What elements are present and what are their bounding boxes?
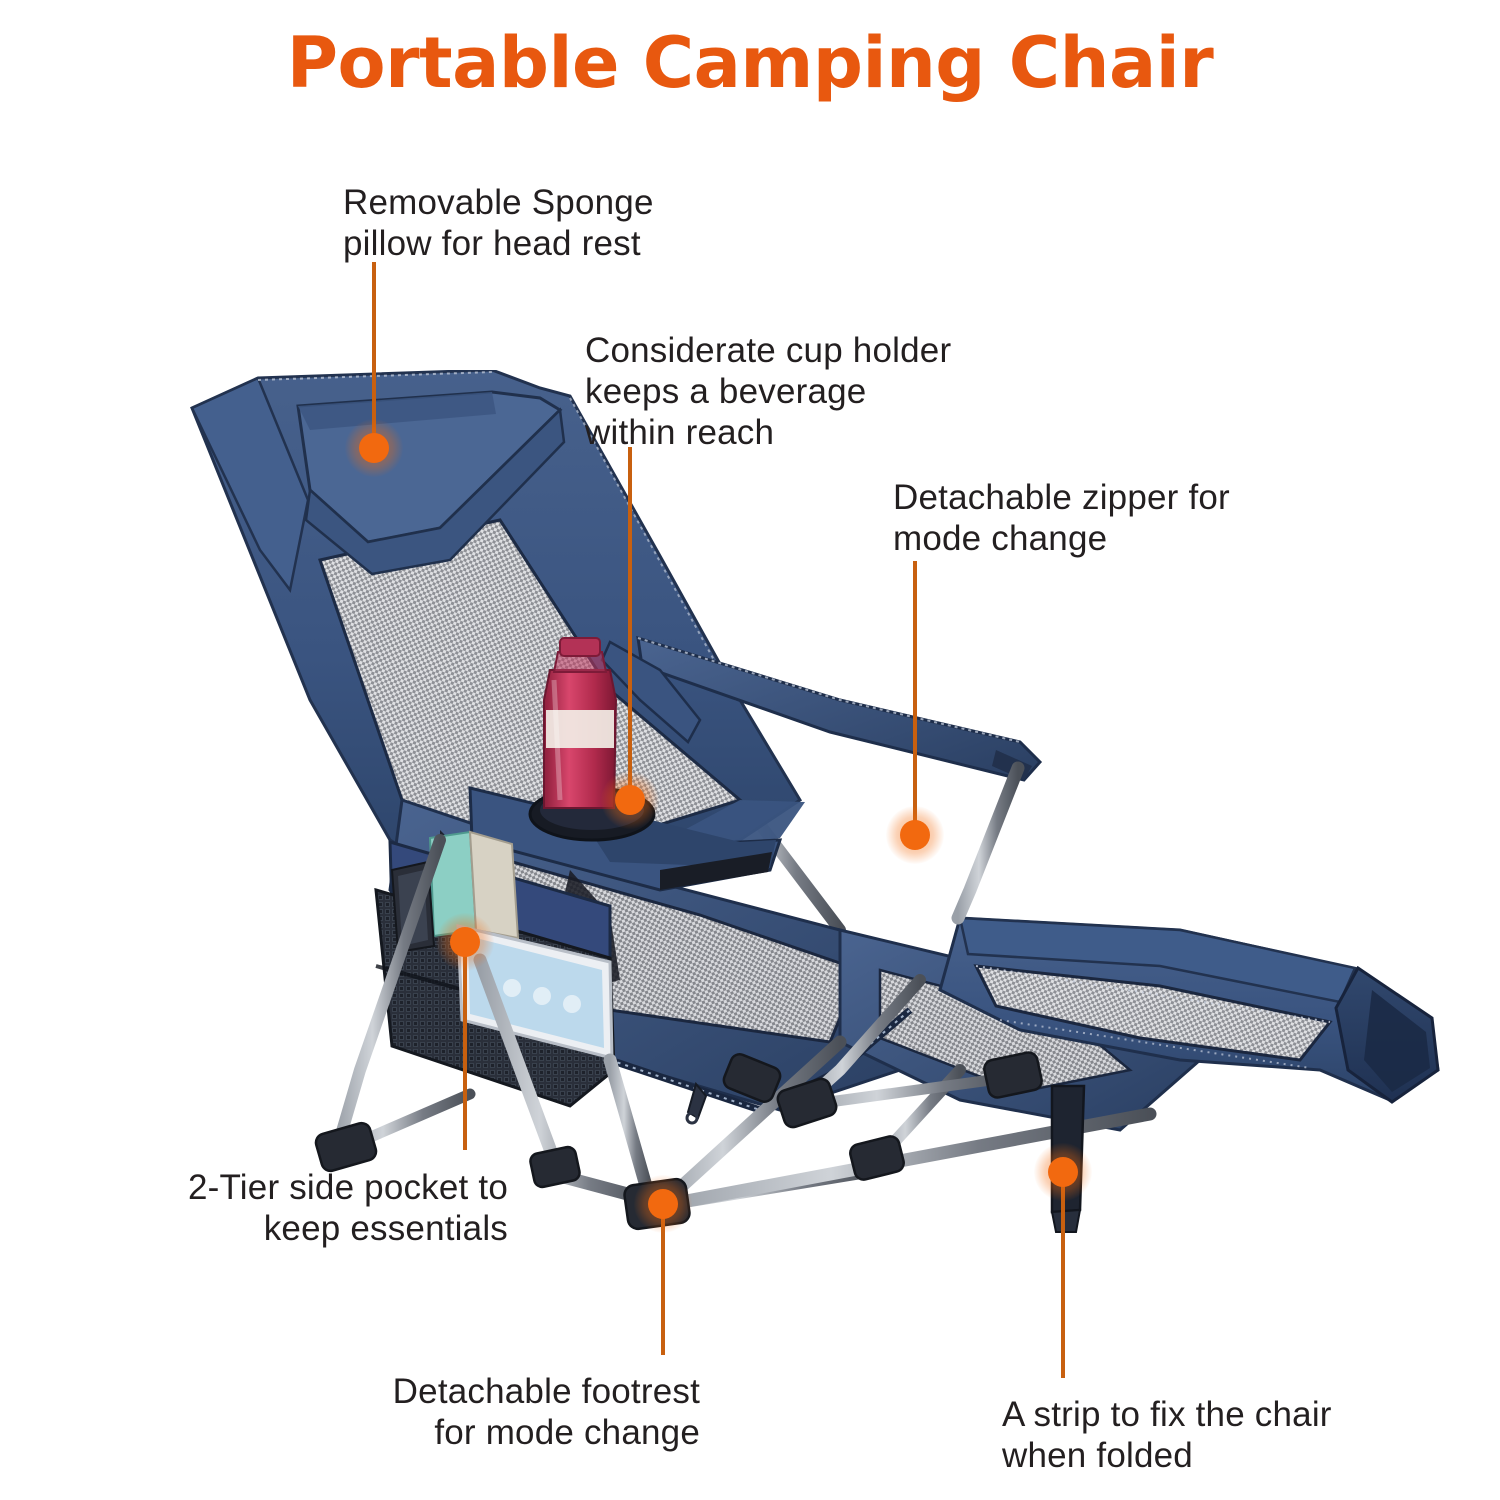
callout-label-side-pocket: 2-Tier side pocket to keep essentials <box>118 1168 508 1250</box>
dot-core-icon <box>1048 1157 1078 1187</box>
callout-label-cup-holder: Considerate cup holder keeps a beverage … <box>585 331 951 454</box>
dot-core-icon <box>648 1189 678 1219</box>
callout-label-strip: A strip to fix the chair when folded <box>1002 1395 1332 1477</box>
callout-label-footrest: Detachable footrest for mode change <box>300 1372 700 1454</box>
dot-core-icon <box>615 785 645 815</box>
product-illustration <box>140 370 1440 1240</box>
dot-core-icon <box>359 433 389 463</box>
infographic-page: Portable Camping Chair <box>0 0 1500 1500</box>
callout-label-zipper: Detachable zipper for mode change <box>893 478 1230 560</box>
page-title: Portable Camping Chair <box>0 22 1500 104</box>
dot-core-icon <box>450 927 480 957</box>
dot-core-icon <box>900 820 930 850</box>
callout-label-pillow: Removable Sponge pillow for head rest <box>343 183 654 265</box>
